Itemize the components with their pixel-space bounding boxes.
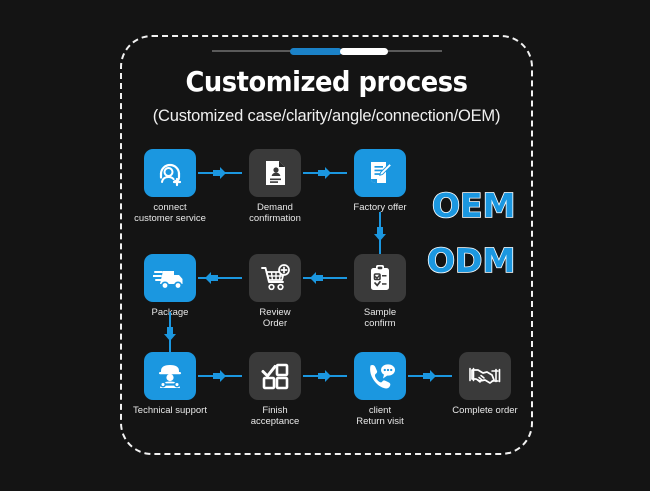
step-technical-support[interactable]: Technical support [131,352,209,416]
page-title: Customized process [137,65,517,98]
arrow-right-icon [211,368,227,384]
step-tile [249,352,301,400]
step-review-order[interactable]: Review Order [236,254,314,329]
headset-support-icon [154,157,186,189]
step-complete-order[interactable]: Complete order [446,352,524,416]
step-label: Technical support [131,405,209,416]
page-subtitle: (Customized case/clarity/angle/connectio… [120,107,533,126]
step-tile [354,352,406,400]
step-connect-customer-service[interactable]: connect customer service [131,149,209,224]
step-label: client Return visit [341,405,419,427]
step-label: Sample confirm [341,307,419,329]
arrow-down-icon [372,226,388,242]
customized-process-infographic: Customized process (Customized case/clar… [0,0,650,491]
document-profile-icon [260,157,290,189]
step-label: Finish acceptance [236,405,314,427]
step-label: Demand confirmation [236,202,314,224]
arrow-right-icon [421,368,437,384]
connector-factory-to-sample [372,212,388,254]
engineer-wrench-icon [154,360,186,392]
step-label: Review Order [236,307,314,329]
clipboard-check-icon [365,262,395,294]
step-tile [249,149,301,197]
divider-blue-segment [290,48,342,55]
shopping-cart-plus-icon [259,263,291,293]
arrow-down-icon [162,326,178,342]
phone-chat-icon [364,361,396,391]
step-sample-confirm[interactable]: Sample confirm [341,254,419,329]
step-tile [144,149,196,197]
arrow-right-icon [316,165,332,181]
step-tile [459,352,511,400]
step-finish-acceptance[interactable]: Finish acceptance [236,352,314,427]
connector-package-to-technical [162,312,178,354]
step-tile [354,149,406,197]
document-pen-icon [365,157,395,189]
step-tile [144,254,196,302]
arrow-right-icon [211,165,227,181]
step-client-return-visit[interactable]: client Return visit [341,352,419,427]
divider-white-segment [340,48,388,55]
badge-oem: OEM [432,186,515,225]
step-package[interactable]: Package [131,254,209,318]
step-tile [354,254,406,302]
step-label: connect customer service [131,202,209,224]
delivery-truck-icon [153,264,187,292]
checklist-grid-icon [260,361,290,391]
arrow-right-icon [316,368,332,384]
header: Customized process (Customized case/clar… [120,40,533,126]
handshake-icon [468,362,502,390]
step-demand-confirmation[interactable]: Demand confirmation [236,149,314,224]
step-label: Complete order [446,405,524,416]
divider-bar-icon [212,45,442,57]
step-tile [144,352,196,400]
step-factory-offer[interactable]: Factory offer [341,149,419,213]
step-tile [249,254,301,302]
badge-odm: ODM [427,241,515,280]
